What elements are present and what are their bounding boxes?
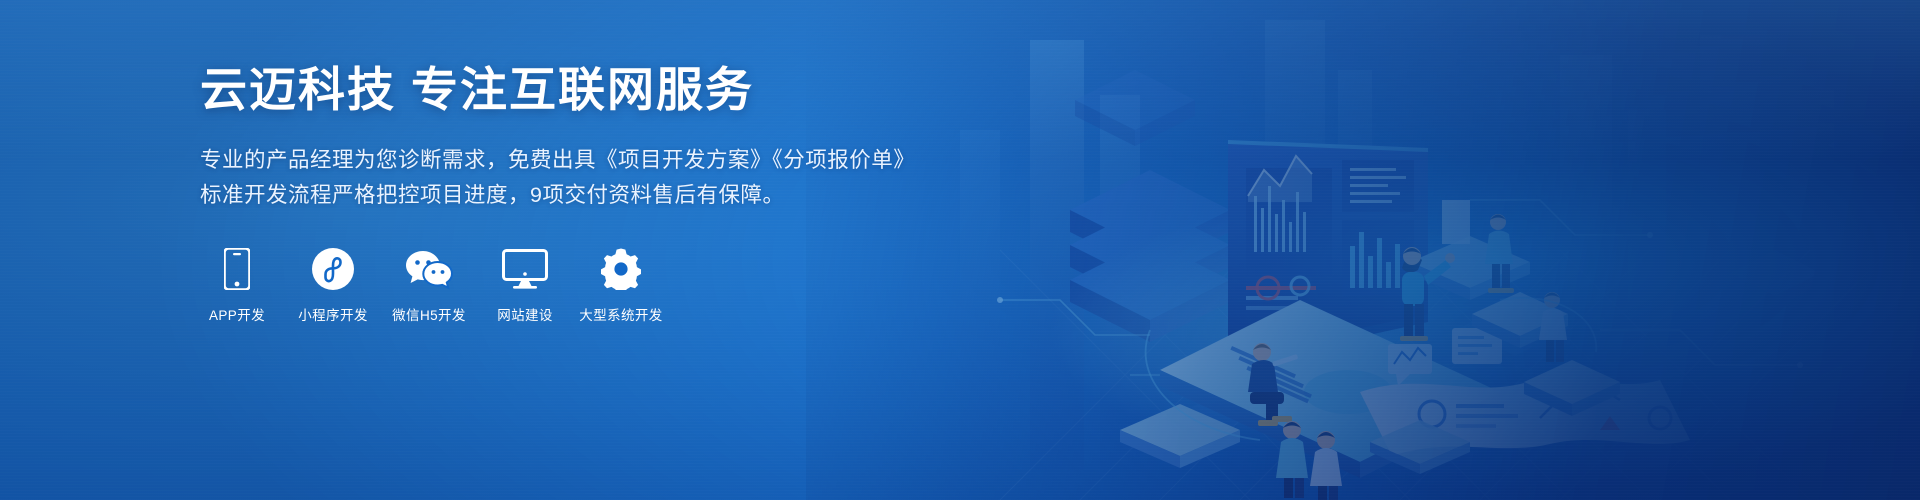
service-item-app[interactable]: APP开发: [200, 247, 274, 324]
service-item-website[interactable]: 网站建设: [488, 247, 562, 324]
promo-banner: 云迈科技 专注互联网服务 专业的产品经理为您诊断需求，免费出具《项目开发方案》《…: [0, 0, 1920, 500]
banner-subtitle-line-1: 专业的产品经理为您诊断需求，免费出具《项目开发方案》《分项报价单》: [200, 143, 960, 178]
service-label-miniprogram: 小程序开发: [298, 304, 368, 324]
service-list: APP开发 小程序开发: [200, 247, 960, 324]
service-label-wechat-h5: 微信H5开发: [392, 304, 466, 324]
banner-subtitle: 专业的产品经理为您诊断需求，免费出具《项目开发方案》《分项报价单》 标准开发流程…: [200, 143, 960, 213]
mini-program-icon: [312, 247, 354, 291]
page-title: 云迈科技 专注互联网服务: [200, 62, 960, 117]
mobile-phone-icon: [224, 247, 250, 291]
gear-icon: [600, 247, 642, 291]
service-item-wechat-h5[interactable]: 微信H5开发: [392, 247, 466, 324]
service-item-large-system[interactable]: 大型系统开发: [584, 247, 658, 324]
banner-content: 云迈科技 专注互联网服务 专业的产品经理为您诊断需求，免费出具《项目开发方案》《…: [200, 62, 960, 324]
service-label-large-system: 大型系统开发: [579, 304, 662, 324]
service-label-app: APP开发: [209, 304, 265, 324]
desktop-monitor-icon: [502, 247, 548, 291]
service-item-miniprogram[interactable]: 小程序开发: [296, 247, 370, 324]
wechat-bubbles-icon: [405, 247, 453, 291]
service-label-website: 网站建设: [497, 304, 553, 324]
banner-subtitle-line-2: 标准开发流程严格把控项目进度，9项交付资料售后有保障。: [200, 178, 960, 213]
